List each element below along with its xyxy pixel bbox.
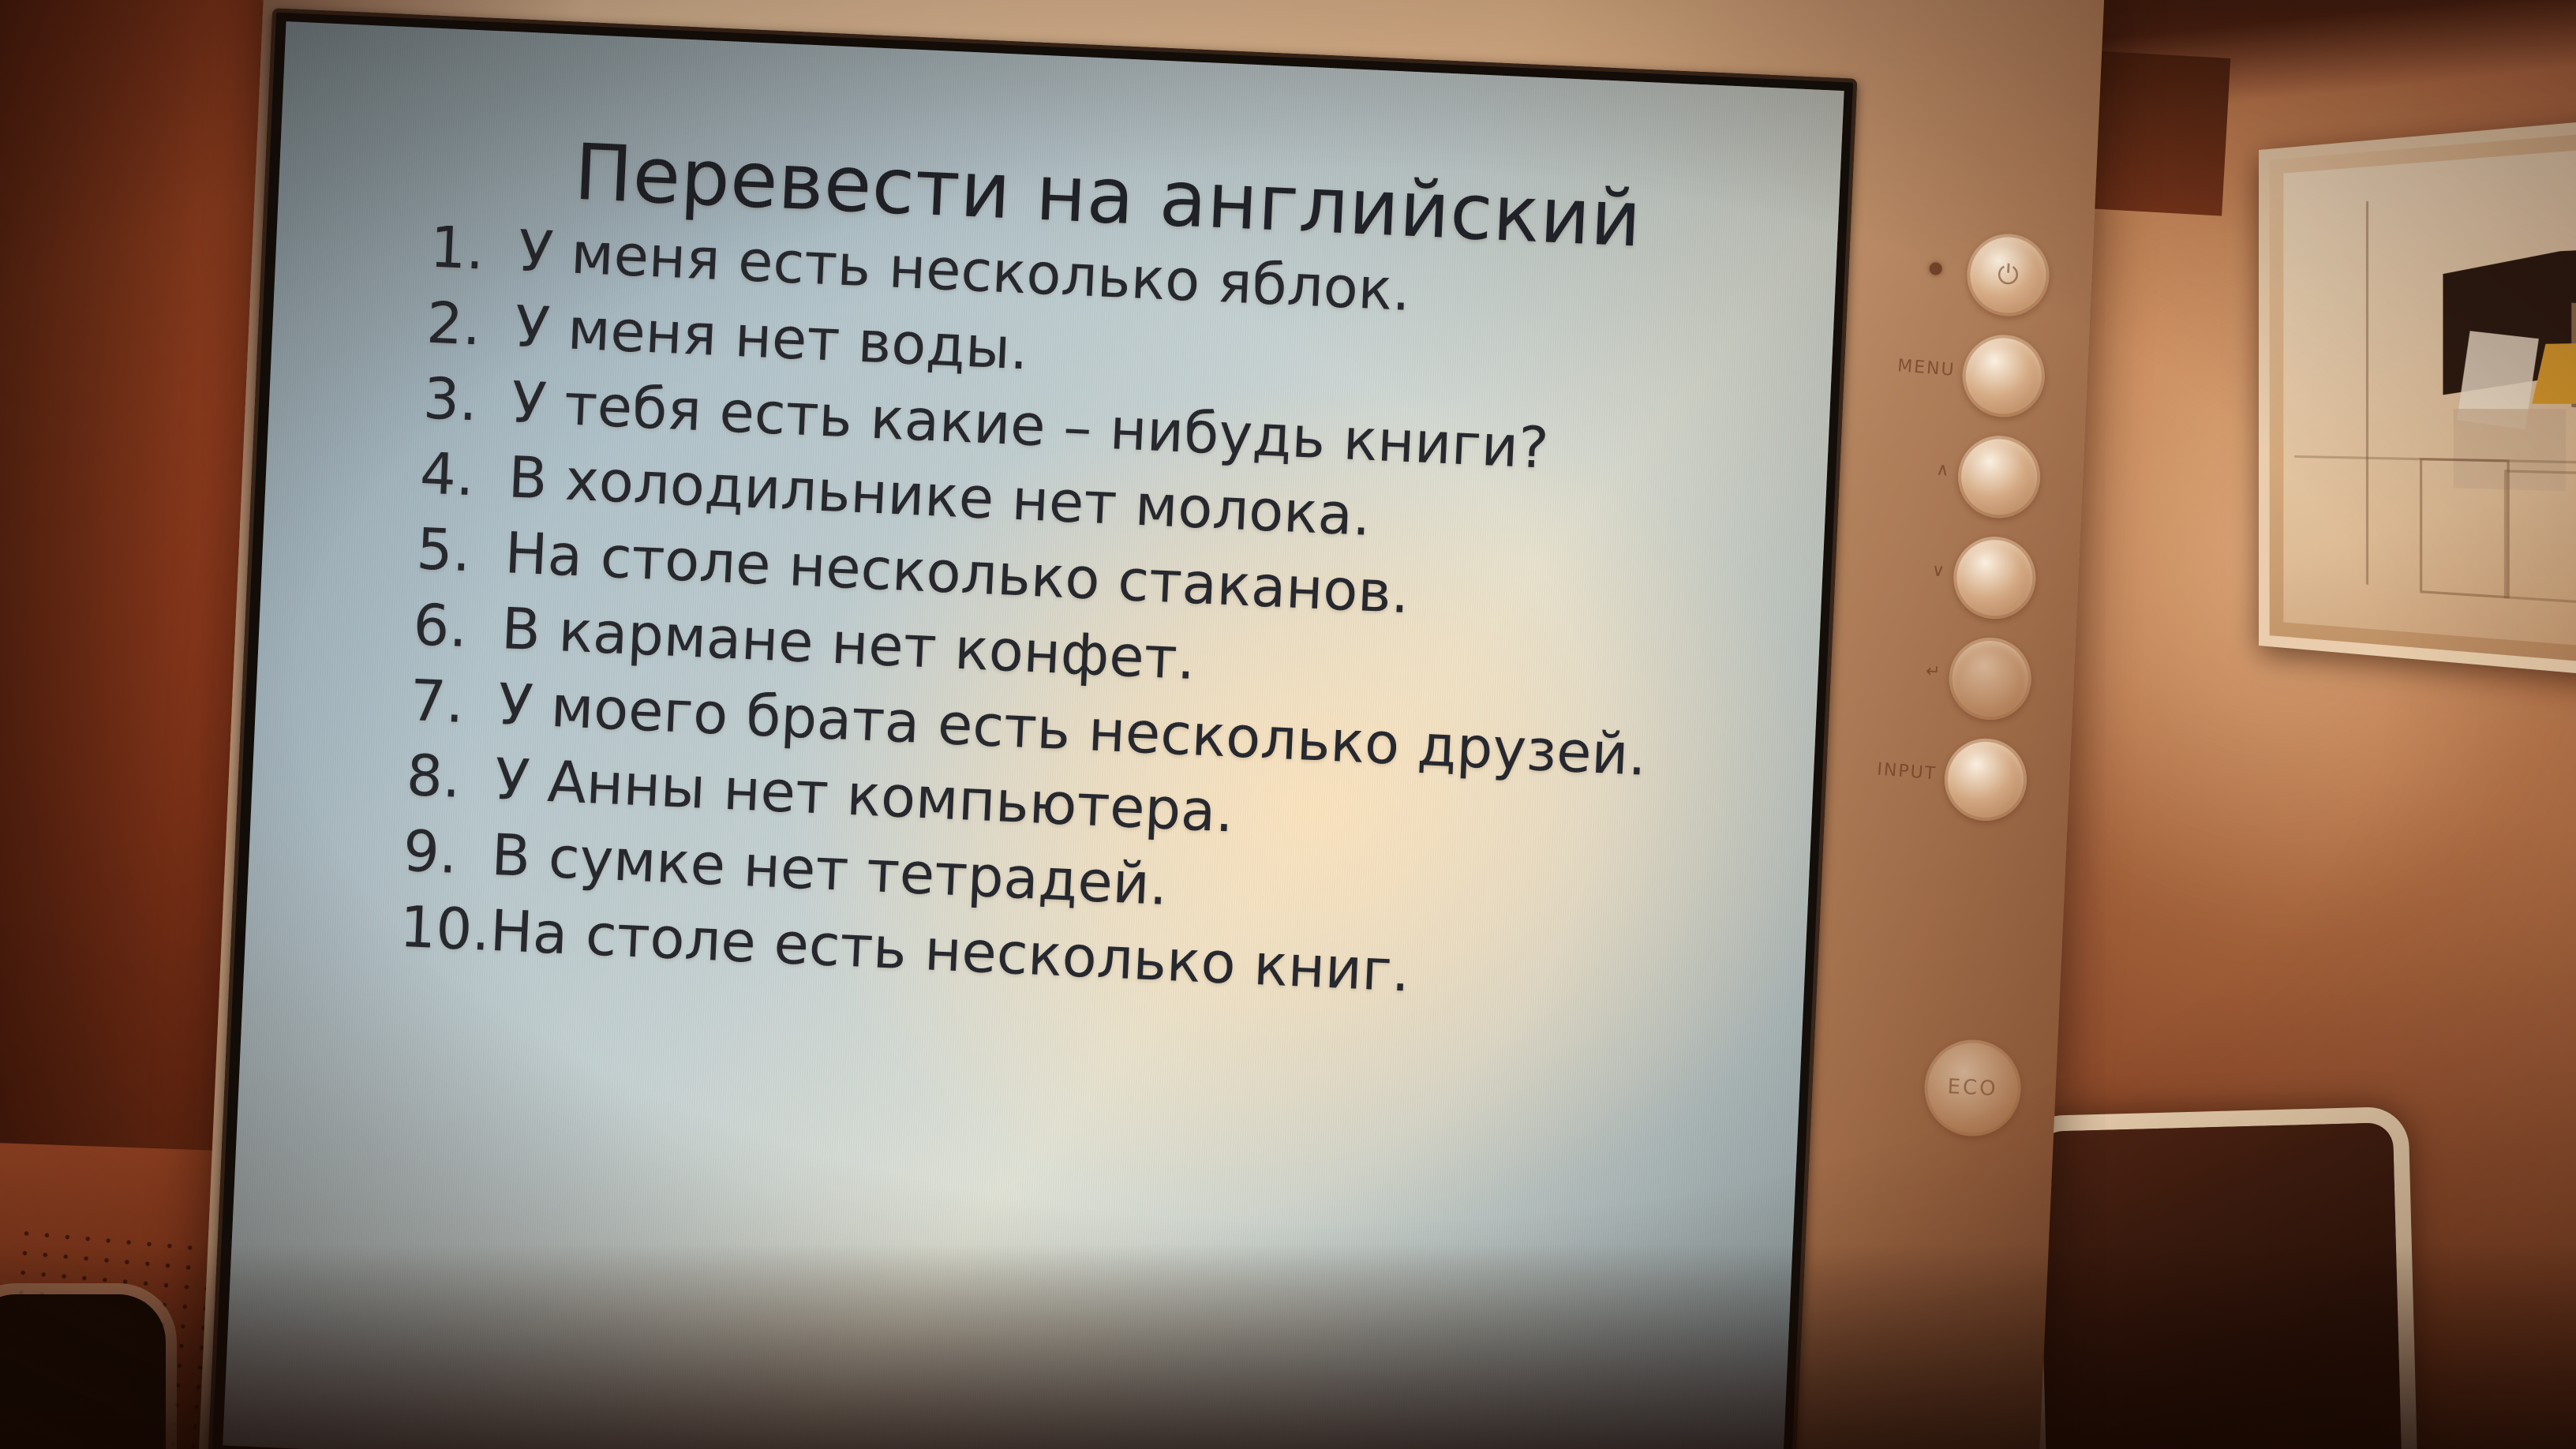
up-button[interactable] <box>1956 434 2042 520</box>
up-button-label: ∧ <box>1935 459 1951 480</box>
power-button[interactable]: ⏻ <box>1965 232 2051 318</box>
floor-shadow <box>0 1244 2576 1449</box>
input-button-label: INPUT <box>1877 760 1938 784</box>
power-icon: ⏻ <box>1965 232 2051 318</box>
menu-button[interactable] <box>1960 333 2046 419</box>
control-row-menu: MENU <box>1864 323 2057 432</box>
screen-surface[interactable]: Перевести на английский 1. У меня есть н… <box>223 21 1844 1449</box>
control-row-down: ∨ <box>1855 524 2049 634</box>
down-button-label: ∨ <box>1931 560 1947 581</box>
room-scene: Перевести на английский 1. У меня есть н… <box>0 0 2576 1449</box>
control-row-power: ⏻ <box>1869 222 2062 331</box>
display-monitor: Перевести на английский 1. У меня есть н… <box>194 0 2106 1449</box>
control-row-up: ∧ <box>1859 424 2053 534</box>
framed-picture <box>2259 118 2576 678</box>
picture-sketch-shape-a <box>2420 458 2510 599</box>
screen-bezel: Перевести на английский 1. У меня есть н… <box>208 8 1857 1449</box>
input-source-button[interactable] <box>1943 737 2029 823</box>
control-row-input: INPUT <box>1846 726 2039 836</box>
power-led-indicator <box>1929 262 1942 275</box>
screen-vignette <box>223 21 1844 1449</box>
enter-button-label: ↵ <box>1925 661 1942 683</box>
menu-button-label: MENU <box>1896 356 1956 380</box>
control-row-enter: ↵ <box>1851 625 2044 735</box>
down-button[interactable] <box>1952 535 2038 621</box>
picture-vertical-line <box>2365 201 2368 585</box>
enter-button[interactable] <box>1947 636 2033 722</box>
eco-button[interactable]: ECO <box>1923 1038 2023 1138</box>
picture-sketch-shape-b <box>2504 470 2576 604</box>
